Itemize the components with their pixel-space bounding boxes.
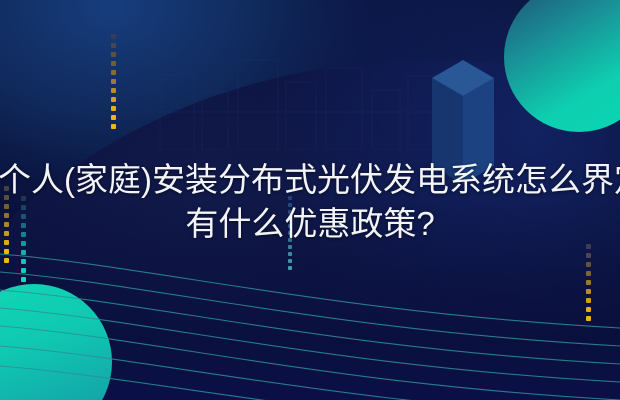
flowing-curve-lines [0, 250, 620, 400]
headline-line-2: 有什么优惠政策? [0, 202, 620, 246]
headline-line-1: 个人(家庭)安装分布式光伏发电系统怎么界定? [0, 158, 620, 202]
gold-dot-column-right [586, 244, 591, 321]
promo-banner: 个人(家庭)安装分布式光伏发电系统怎么界定? 有什么优惠政策? [0, 0, 620, 400]
gold-dot-column-top [111, 34, 116, 129]
banner-headline: 个人(家庭)安装分布式光伏发电系统怎么界定? 有什么优惠政策? [0, 158, 620, 245]
